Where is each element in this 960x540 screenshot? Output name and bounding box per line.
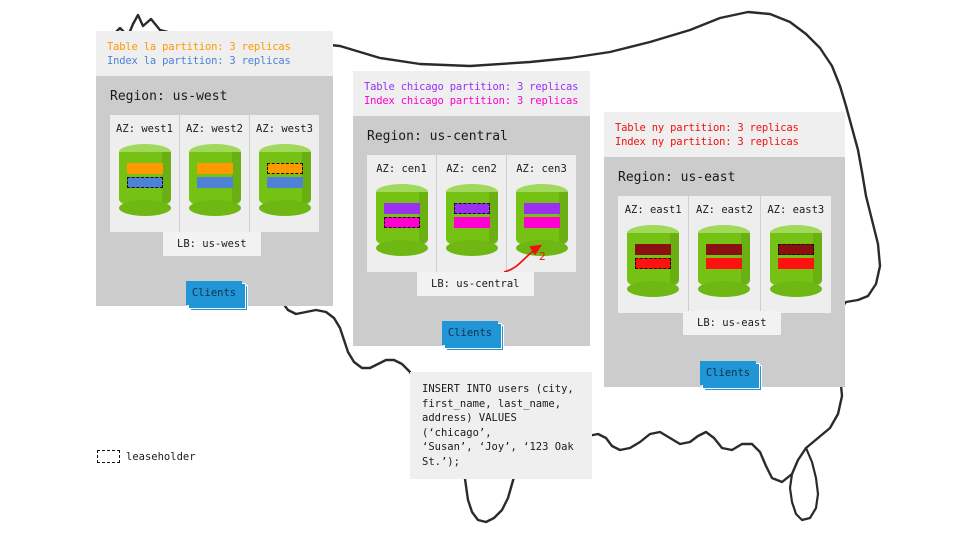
region-body-us-east: Region: us-east AZ: east1 AZ: east2 bbox=[604, 157, 845, 387]
az-cell-cen2[interactable]: AZ: cen2 bbox=[436, 155, 506, 272]
node-cylinder-east1[interactable] bbox=[627, 225, 679, 297]
replica-header-us-east: Table ny partition: 3 replicas Index ny … bbox=[604, 112, 845, 157]
table-replica-band bbox=[384, 203, 420, 214]
az-label: AZ: east3 bbox=[767, 204, 824, 216]
index-replica-band bbox=[778, 258, 814, 269]
step-2-label: 2 bbox=[539, 250, 546, 263]
table-replica-line: Table chicago partition: 3 replicas bbox=[364, 80, 579, 94]
az-cell-east1[interactable]: AZ: east1 bbox=[618, 196, 688, 313]
cylinder-bottom bbox=[376, 240, 428, 256]
index-replica-band bbox=[267, 177, 303, 188]
legend-label: leaseholder bbox=[126, 451, 196, 463]
node-cylinder-west3[interactable] bbox=[259, 144, 311, 216]
table-replica-band bbox=[524, 203, 560, 214]
table-replica-band bbox=[127, 163, 163, 174]
az-label: AZ: cen1 bbox=[376, 163, 427, 175]
sql-insert-note: INSERT INTO users (city, first_name, las… bbox=[410, 372, 592, 479]
region-title: Region: us-central bbox=[353, 116, 590, 155]
az-label: AZ: east1 bbox=[625, 204, 682, 216]
cylinder-bottom bbox=[446, 240, 498, 256]
node-cylinder-east3[interactable] bbox=[770, 225, 822, 297]
node-cylinder-cen1[interactable] bbox=[376, 184, 428, 256]
table-replica-line: Table la partition: 3 replicas bbox=[107, 40, 322, 54]
clients-label[interactable]: Clients bbox=[442, 321, 498, 345]
replica-header-us-west: Table la partition: 3 replicas Index la … bbox=[96, 31, 333, 76]
region-panel-us-central: Table chicago partition: 3 replicas Inde… bbox=[353, 71, 590, 346]
az-label: AZ: west3 bbox=[256, 123, 313, 135]
load-balancer-us-west[interactable]: LB: us-west bbox=[163, 232, 261, 256]
az-label: AZ: west2 bbox=[186, 123, 243, 135]
az-label: AZ: cen3 bbox=[516, 163, 567, 175]
region-panel-us-east: Table ny partition: 3 replicas Index ny … bbox=[604, 112, 845, 387]
node-cylinder-west2[interactable] bbox=[189, 144, 241, 216]
az-cell-east3[interactable]: AZ: east3 bbox=[760, 196, 831, 313]
load-balancer-us-east[interactable]: LB: us-east bbox=[683, 311, 781, 335]
table-replica-band bbox=[635, 244, 671, 255]
node-cylinder-cen3[interactable] bbox=[516, 184, 568, 256]
clients-label[interactable]: Clients bbox=[186, 281, 242, 305]
index-replica-line: Index chicago partition: 3 replicas bbox=[364, 94, 579, 108]
node-cylinder-east2[interactable] bbox=[698, 225, 750, 297]
cylinder-bottom bbox=[698, 281, 750, 297]
az-cell-west2[interactable]: AZ: west2 bbox=[179, 115, 249, 232]
table-replica-band-leaseholder bbox=[454, 203, 490, 214]
region-panel-us-west: Table la partition: 3 replicas Index la … bbox=[96, 31, 333, 306]
index-replica-band-leaseholder bbox=[635, 258, 671, 269]
clients-label[interactable]: Clients bbox=[700, 361, 756, 385]
region-title: Region: us-east bbox=[604, 157, 845, 196]
cylinder-bottom bbox=[259, 200, 311, 216]
table-replica-line: Table ny partition: 3 replicas bbox=[615, 121, 834, 135]
cylinder-bottom bbox=[189, 200, 241, 216]
index-replica-band bbox=[454, 217, 490, 228]
load-balancer-us-central[interactable]: LB: us-central bbox=[417, 272, 534, 296]
index-replica-band bbox=[524, 217, 560, 228]
dashed-rect-icon bbox=[97, 450, 120, 463]
diagram-stage: Table la partition: 3 replicas Index la … bbox=[0, 0, 960, 540]
region-title: Region: us-west bbox=[96, 76, 333, 115]
table-replica-band-leaseholder bbox=[778, 244, 814, 255]
node-cylinder-cen2[interactable] bbox=[446, 184, 498, 256]
table-replica-band bbox=[197, 163, 233, 174]
clients-us-central[interactable]: Clients bbox=[442, 321, 500, 347]
clients-us-east[interactable]: Clients bbox=[700, 361, 758, 387]
clients-us-west[interactable]: Clients bbox=[186, 281, 244, 307]
az-strip-us-west: AZ: west1 AZ: west2 bbox=[110, 115, 319, 232]
az-strip-us-east: AZ: east1 AZ: east2 bbox=[618, 196, 831, 313]
index-replica-band-leaseholder bbox=[127, 177, 163, 188]
az-cell-west1[interactable]: AZ: west1 bbox=[110, 115, 179, 232]
cylinder-bottom bbox=[627, 281, 679, 297]
index-replica-band bbox=[197, 177, 233, 188]
index-replica-band bbox=[706, 258, 742, 269]
replica-header-us-central: Table chicago partition: 3 replicas Inde… bbox=[353, 71, 590, 116]
index-replica-band-leaseholder bbox=[384, 217, 420, 228]
legend: leaseholder bbox=[97, 450, 196, 463]
node-cylinder-west1[interactable] bbox=[119, 144, 171, 216]
az-cell-east2[interactable]: AZ: east2 bbox=[688, 196, 759, 313]
az-cell-west3[interactable]: AZ: west3 bbox=[249, 115, 319, 232]
az-label: AZ: west1 bbox=[116, 123, 173, 135]
region-body-us-central: Region: us-central AZ: cen1 AZ: cen2 bbox=[353, 116, 590, 346]
region-body-us-west: Region: us-west AZ: west1 AZ: west2 bbox=[96, 76, 333, 306]
az-label: AZ: cen2 bbox=[446, 163, 497, 175]
table-replica-band-leaseholder bbox=[267, 163, 303, 174]
cylinder-bottom bbox=[119, 200, 171, 216]
index-replica-line: Index la partition: 3 replicas bbox=[107, 54, 322, 68]
az-label: AZ: east2 bbox=[696, 204, 753, 216]
index-replica-line: Index ny partition: 3 replicas bbox=[615, 135, 834, 149]
az-cell-cen1[interactable]: AZ: cen1 bbox=[367, 155, 436, 272]
cylinder-bottom bbox=[770, 281, 822, 297]
table-replica-band bbox=[706, 244, 742, 255]
